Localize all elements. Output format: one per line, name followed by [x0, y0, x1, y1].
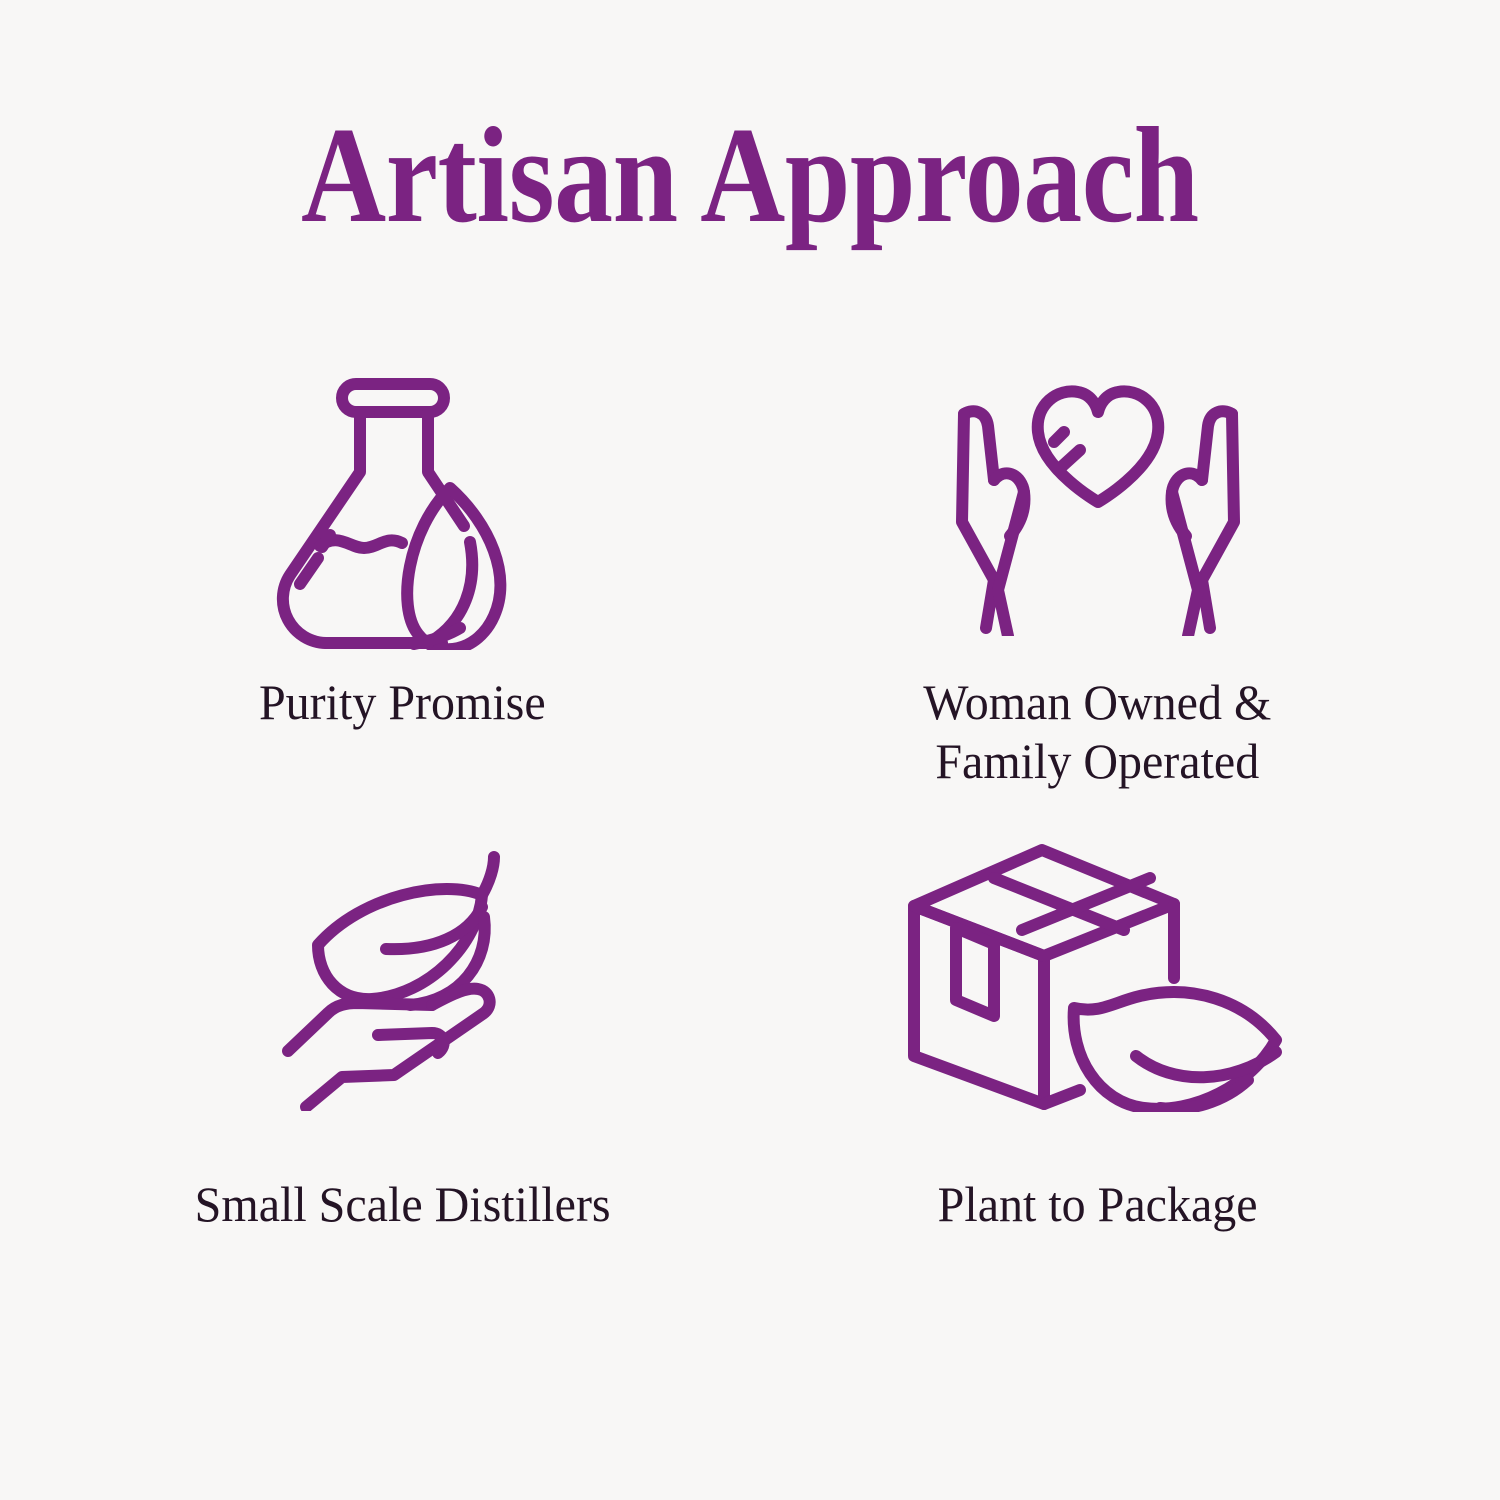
feature-label: Woman Owned & Family Operated	[923, 673, 1271, 791]
page-title: Artisan Approach	[301, 104, 1199, 248]
feature-item-purity-promise: Purity Promise	[55, 355, 750, 825]
box-leaf-icon	[902, 825, 1294, 1125]
feature-item-small-scale-distillers: Small Scale Distillers	[55, 825, 750, 1295]
page-title-container: Artisan Approach	[0, 104, 1500, 248]
hands-heart-icon	[938, 355, 1258, 655]
feature-label: Small Scale Distillers	[195, 1175, 611, 1234]
feature-label: Purity Promise	[259, 673, 546, 732]
artisan-approach-panel: Artisan Approach	[0, 0, 1500, 1500]
feature-item-plant-to-package: Plant to Package	[750, 825, 1445, 1295]
feature-item-woman-owned: Woman Owned & Family Operated	[750, 355, 1445, 825]
flask-leaf-icon	[268, 355, 538, 655]
feature-label: Plant to Package	[938, 1175, 1258, 1234]
feature-grid: Purity Promise	[55, 355, 1445, 1295]
hand-leaf-icon	[278, 825, 528, 1125]
